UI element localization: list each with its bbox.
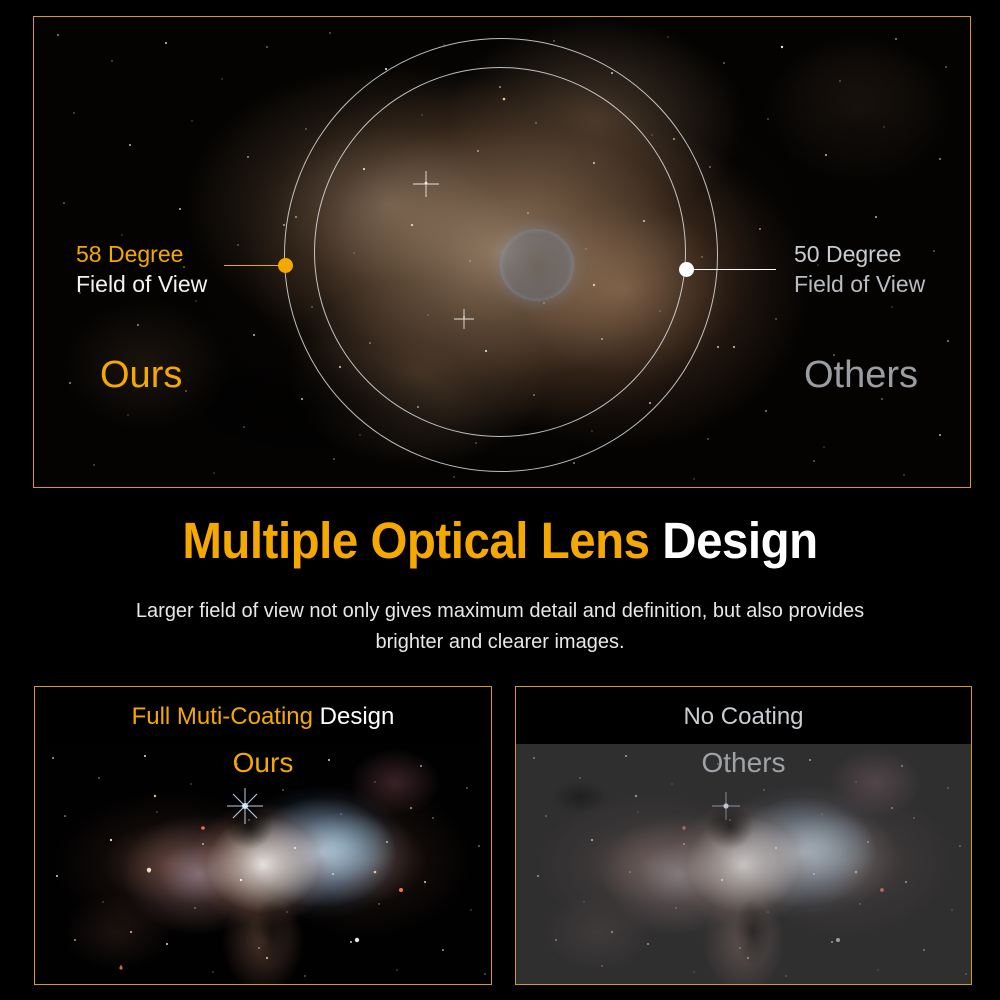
coating-caption-highlight: Full Muti-Coating (132, 703, 313, 730)
fov-brand-others: Others (804, 354, 918, 397)
field-of-view-panel: 58 Degree Field of View 50 Degree Field … (33, 16, 971, 488)
fov-marker-dot-ours (278, 258, 293, 273)
coating-caption-others: No Coating (516, 703, 971, 731)
inner-fov-circle (314, 67, 686, 437)
leader-line-ours (224, 265, 284, 266)
section-subcopy: Larger field of view not only gives maxi… (100, 596, 900, 658)
fov-sublabel-ours: Field of View (76, 269, 207, 299)
coating-caption-plain: Design (320, 703, 395, 730)
leader-line-others (686, 269, 776, 270)
coating-panel-others: No Coating (515, 686, 972, 985)
fov-sublabel-others: Field of View (794, 269, 925, 299)
fov-callout-ours: 58 Degree Field of View (76, 239, 207, 300)
headline-plain: Design (662, 512, 817, 569)
fov-degree-others: 50 Degree (794, 239, 925, 269)
fov-degree-ours: 58 Degree (76, 239, 207, 269)
fov-brand-ours: Ours (100, 354, 182, 397)
coated-nebula-image (35, 744, 491, 985)
coating-panel-ours: Full Muti-Coating Design (34, 686, 492, 985)
starfield-overlay-others (516, 744, 971, 985)
uncoated-nebula-image (516, 744, 971, 985)
fov-marker-dot-others (679, 262, 694, 277)
starfield-overlay-ours (35, 744, 491, 985)
section-headline: Multiple Optical Lens Design (35, 511, 965, 570)
headline-highlight: Multiple Optical Lens (182, 512, 649, 569)
coating-brand-ours: Ours (35, 747, 491, 779)
coating-brand-others: Others (516, 747, 971, 779)
coating-caption-no-coating: No Coating (683, 703, 803, 730)
fov-callout-others: 50 Degree Field of View (794, 239, 925, 300)
coating-caption-ours: Full Muti-Coating Design (35, 703, 491, 731)
